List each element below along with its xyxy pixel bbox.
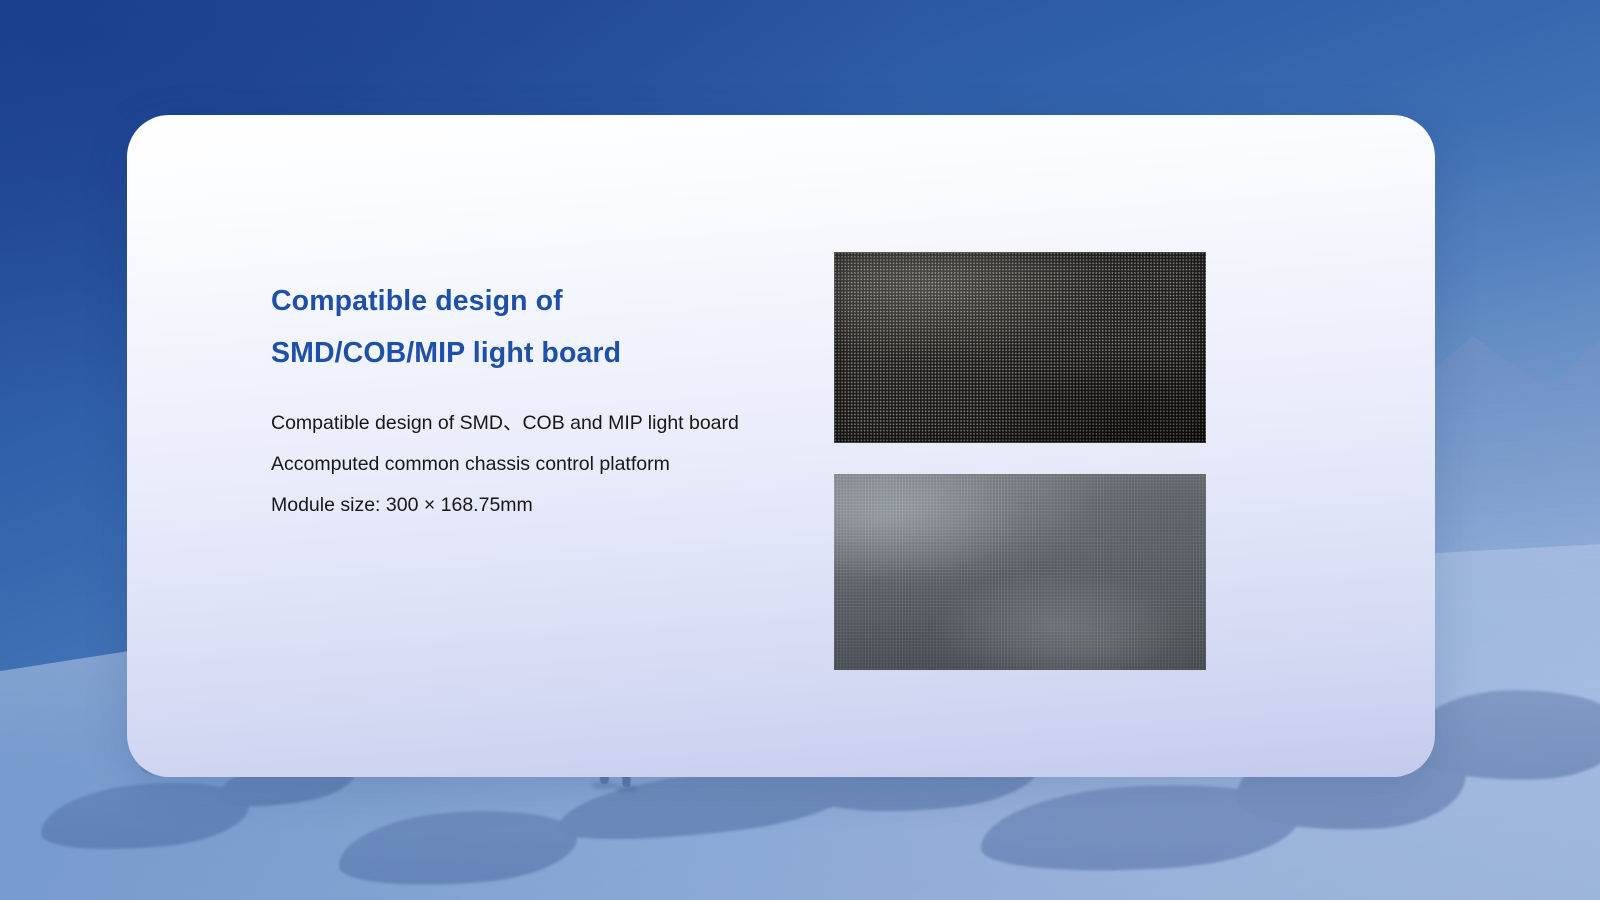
card-body-copy: Compatible design of SMD、COB and MIP lig… [271, 403, 791, 526]
media-column [834, 252, 1206, 670]
smd-led-module-photo [834, 252, 1206, 443]
headline-line-2: SMD/COB/MIP light board [271, 327, 791, 379]
led-bezel-edge [834, 252, 1206, 443]
cob-panel-photo [834, 474, 1206, 670]
led-highlight-overlay [834, 252, 1206, 443]
card-headline: Compatible design of SMD/COB/MIP light b… [271, 275, 791, 379]
body-line-compatible-design: Compatible design of SMD、COB and MIP lig… [271, 403, 761, 444]
feature-card: Compatible design of SMD/COB/MIP light b… [127, 115, 1435, 777]
body-line-chassis-platform: Accomputed common chassis control platfo… [271, 444, 791, 485]
body-line-module-size: Module size: 300 × 168.75mm [271, 485, 791, 526]
headline-line-1: Compatible design of [271, 275, 791, 327]
text-column: Compatible design of SMD/COB/MIP light b… [271, 275, 791, 526]
cob-highlight-overlay [834, 474, 1206, 670]
slide-stage: Compatible design of SMD/COB/MIP light b… [0, 0, 1600, 900]
